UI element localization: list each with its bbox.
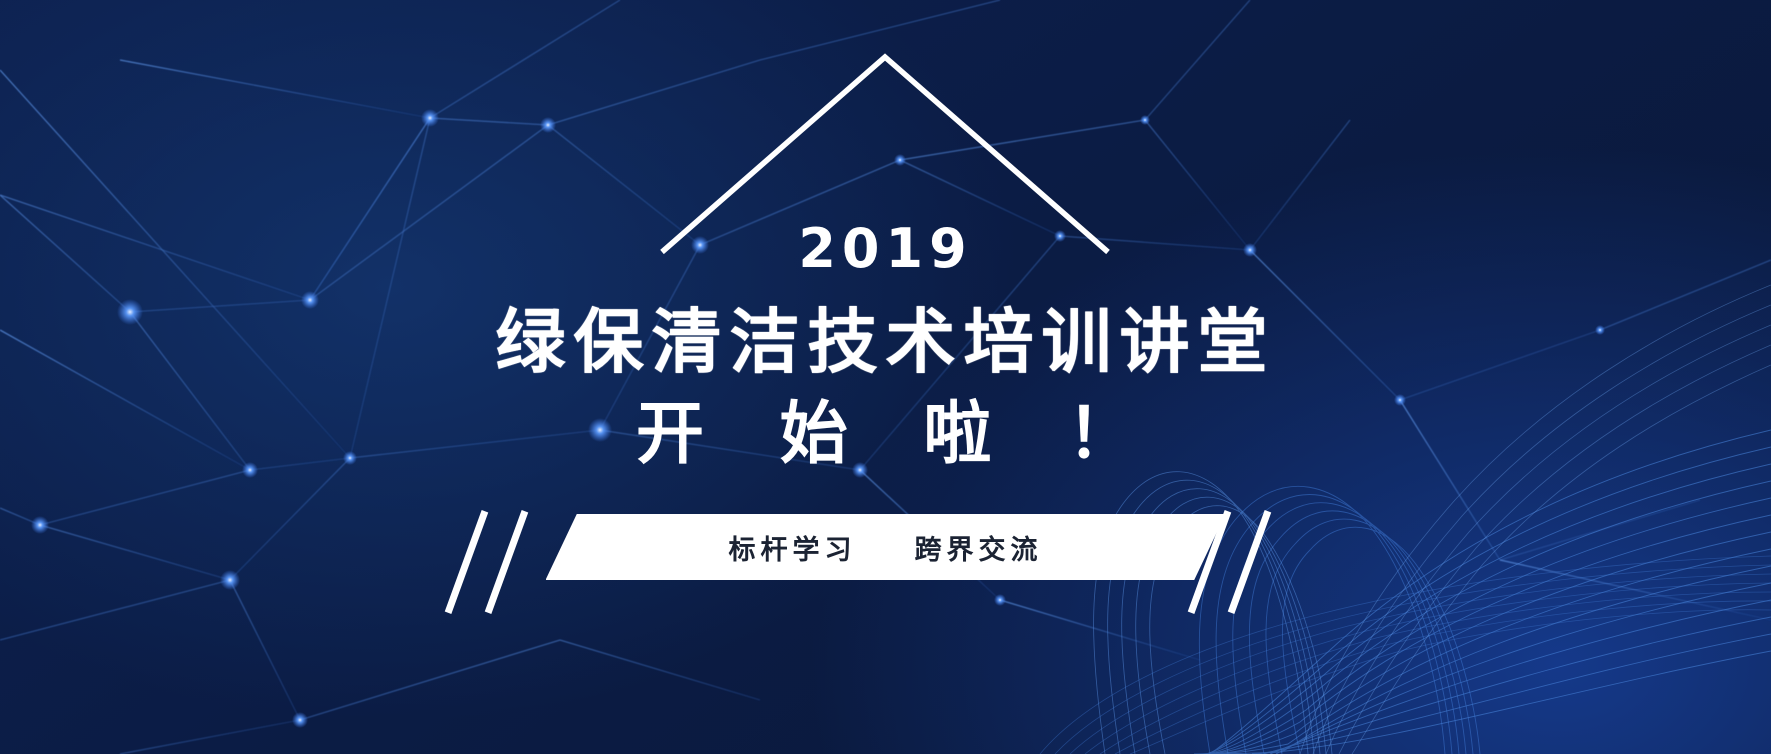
ribbon-right-label: 跨界交流 bbox=[915, 528, 1043, 567]
promo-banner: 2019 绿保清洁技术培训讲堂 开 始 啦 ！ 标杆学习 跨界交流 bbox=[0, 0, 1771, 754]
poster-content: 2019 绿保清洁技术培训讲堂 开 始 啦 ！ bbox=[0, 0, 1771, 754]
page-subtitle: 开 始 啦 ！ bbox=[610, 398, 1161, 473]
ribbon-text: 标杆学习 跨界交流 bbox=[729, 528, 1043, 567]
year-label: 2019 bbox=[798, 222, 972, 276]
ribbon-shape: 标杆学习 跨界交流 bbox=[546, 514, 1226, 580]
page-title: 绿保清洁技术培训讲堂 bbox=[496, 305, 1276, 381]
subtitle-ribbon: 标杆学习 跨界交流 bbox=[546, 514, 1226, 580]
ribbon-left-label: 标杆学习 bbox=[729, 528, 857, 567]
